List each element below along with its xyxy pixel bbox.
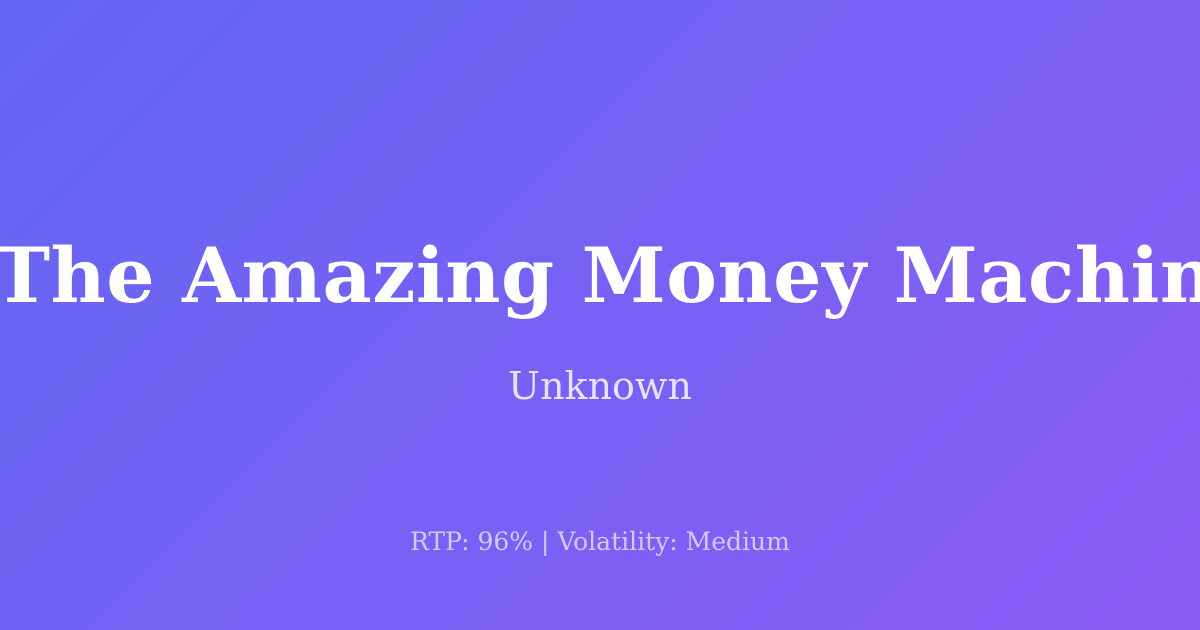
game-stats-line: RTP: 96% | Volatility: Medium: [0, 527, 1200, 557]
title-line: 1F 30 The Amazing Money Machine: [0, 232, 1200, 319]
page-subtitle: Unknown: [0, 364, 1200, 410]
og-share-card: 1F 30 The Amazing Money Machine Unknown …: [0, 0, 1200, 630]
page-title: The Amazing Money Machine: [0, 232, 1200, 319]
